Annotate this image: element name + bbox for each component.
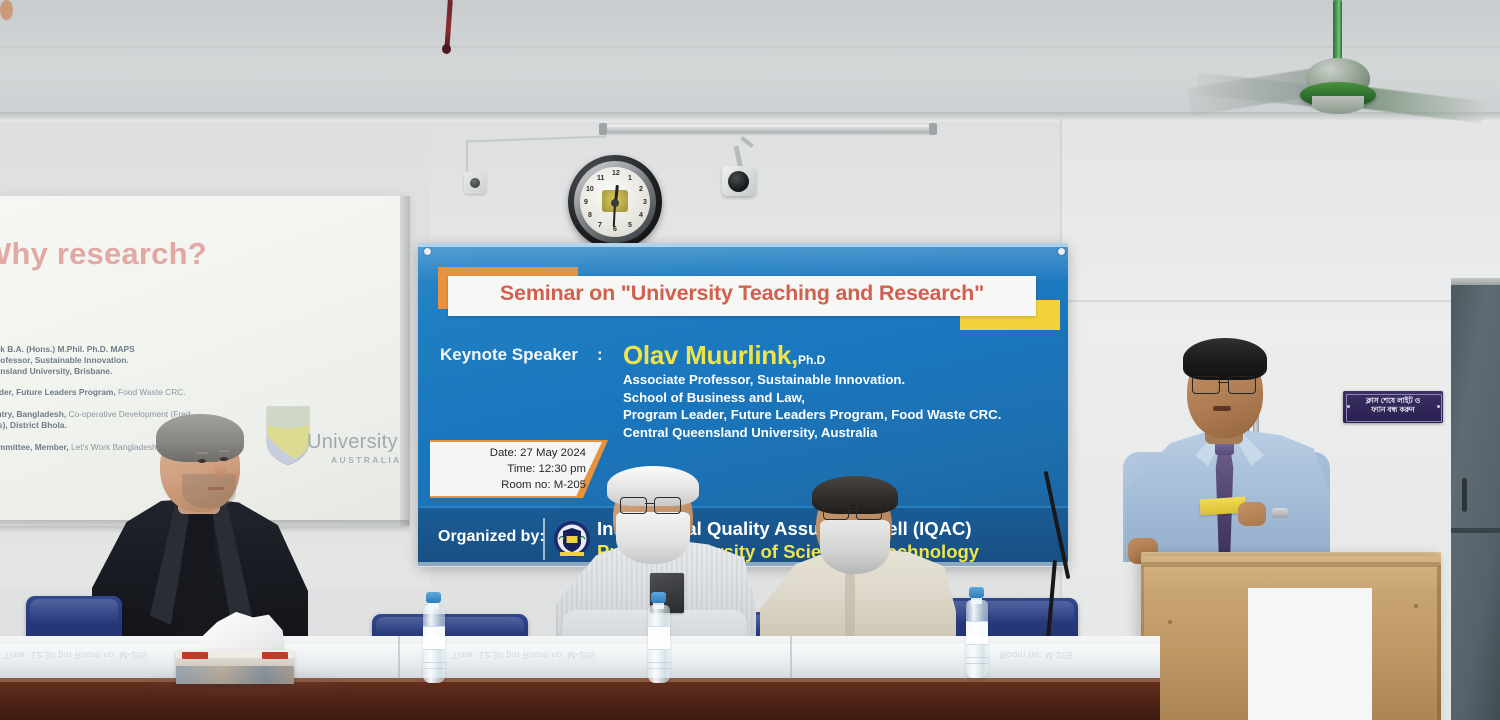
organized-by-label: Organized by:: [438, 528, 545, 546]
clock-numeral: 7: [598, 222, 602, 229]
person-olav-muurlink: [0, 0, 13, 20]
bottle-label: [648, 626, 670, 650]
object-shadow: [150, 676, 340, 692]
door-handle[interactable]: [1462, 478, 1467, 512]
hair: [1183, 338, 1267, 380]
table-reflection-text: Room no: M-205: [1000, 650, 1073, 660]
banner-top-hem: [418, 243, 1068, 247]
tissue-box-logo: [262, 652, 288, 659]
chair-highlight: [942, 601, 1074, 623]
glasses-lens-left: [1192, 376, 1220, 394]
mouth: [208, 487, 224, 490]
sign-screw: [1437, 405, 1440, 408]
bengali-sign-line: ফ্যান বন্ধ করুন: [1346, 405, 1440, 414]
keynote-colon: :: [597, 345, 603, 365]
slide-line-rest: Food Waste CRC.: [116, 387, 186, 397]
affiliation-line: Central Queensland University, Australia: [623, 424, 1053, 442]
glasses-lens-right: [1228, 376, 1256, 394]
podium-screw: [1168, 620, 1172, 624]
tissue-box-logo: [182, 652, 208, 659]
glasses-bridge: [1218, 382, 1228, 383]
slide-line: Muurlink B.A. (Hons.) M.Phil. Ph.D. MAPS: [0, 345, 260, 354]
glasses-bridge: [645, 503, 654, 504]
speaker-degree: Ph.D: [798, 353, 825, 367]
glasses-lens-right: [654, 497, 681, 514]
slide-line-rest: Let's Work Bangladesh: [69, 442, 157, 452]
seminar-photograph: 12 1 2 3 4 5 6 7 8 9 10 11 Why research?…: [0, 0, 1500, 720]
tube-light-cap: [929, 123, 937, 135]
fan-downrod: [1333, 0, 1342, 62]
clock-numeral: 1: [628, 175, 632, 182]
table-reflection-text: Time: 12:30 pm Room no: M-205: [4, 650, 147, 660]
university-crest-icon: [553, 519, 591, 559]
chair-highlight: [376, 617, 524, 635]
podium-crest: Pundra University of Science & Technolog…: [1248, 588, 1372, 720]
speaker-affiliation: Associate Professor, Sustainable Innovat…: [623, 371, 1053, 441]
cqu-logo: University AUSTRALIA: [265, 405, 393, 497]
hand-left: [1238, 502, 1266, 526]
event-details-text: Date: 27 May 2024 Time: 12:30 pm Room no…: [436, 445, 594, 494]
event-room: Room no: M-205: [436, 477, 586, 493]
ceiling-cornice: [0, 112, 1500, 122]
event-date: Date: 27 May 2024: [436, 445, 586, 461]
door-cross-bar: [1451, 528, 1500, 533]
bottle-rib: [423, 668, 445, 669]
clock-numeral: 12: [612, 170, 620, 177]
bottle-cap: [969, 587, 984, 598]
wall-speaker-cone: [728, 171, 749, 192]
keynote-speaker-name: Olav Muurlink,Ph.D: [623, 340, 825, 371]
bengali-sign-text: ক্লাস শেষে লাইট ও ফ্যান বন্ধ করুন: [1346, 396, 1440, 415]
bottle-cap: [426, 592, 441, 603]
table-reflection-text: Time: 12:30 pm Room no: M-205: [452, 650, 595, 660]
red-wire-tip: [442, 44, 451, 54]
bottle-label: [966, 621, 988, 645]
affiliation-line: School of Business and Law,: [623, 389, 1053, 407]
table-seam: [790, 636, 792, 682]
event-time: Time: 12:30 pm: [436, 461, 586, 477]
event-details-block: Date: 27 May 2024 Time: 12:30 pm Room no…: [430, 440, 608, 498]
tube-light: [603, 125, 933, 133]
keynote-label: Keynote Speaker: [440, 345, 578, 365]
glasses-lens-left: [823, 504, 849, 520]
clock-numeral: 5: [628, 222, 632, 229]
bottle-rib: [648, 662, 670, 663]
bottle-cap: [651, 592, 666, 603]
sign-screw: [1347, 405, 1350, 408]
slide-line-bold: am Leader, Future Leaders Program,: [0, 387, 116, 397]
clock-numeral: 2: [639, 186, 643, 193]
affiliation-line: Associate Professor, Sustainable Innovat…: [623, 371, 1053, 389]
fan-cap: [1312, 96, 1364, 114]
banner-grommet: [424, 248, 431, 255]
ceiling-seam: [0, 46, 1500, 48]
bottle-label: [423, 626, 445, 650]
slide-line-bold: Schools), District Bhola.: [0, 420, 67, 430]
bottle-rib: [966, 657, 988, 658]
slide-line-bold: tive Committee, Member,: [0, 442, 69, 452]
glasses-lens-left: [620, 497, 647, 514]
organized-divider: [543, 518, 545, 560]
clock-numeral: 11: [597, 175, 604, 182]
mouth: [1213, 406, 1231, 411]
podium-edge-right: [1437, 566, 1441, 720]
slide-line-bold: Muurlink B.A. (Hons.) M.Phil. Ph.D. MAPS: [0, 344, 135, 354]
tube-light-cap: [599, 123, 607, 135]
cqu-sublabel: AUSTRALIA: [331, 455, 402, 465]
slide-line: al Queensland University, Brisbane.: [0, 367, 260, 376]
grey-beard: [820, 520, 890, 574]
slide-line-bold: al Queensland University, Brisbane.: [0, 366, 112, 376]
slide-line: ciate Professor, Sustainable Innovation.: [0, 356, 260, 365]
eye: [198, 459, 206, 463]
hair: [156, 414, 244, 462]
ear: [0, 0, 13, 20]
glasses-lens-right: [856, 504, 882, 520]
slide-line-bold: ciate Professor, Sustainable Innovation.: [0, 355, 129, 365]
white-beard: [616, 512, 690, 564]
bottle-rib: [423, 662, 445, 663]
clock-numeral: 9: [584, 199, 588, 206]
podium-lip: [1141, 562, 1441, 567]
wall-socket-hole: [470, 178, 480, 188]
wall-seam-right: [1060, 300, 1500, 302]
speaker-name-text: Olav Muurlink,: [623, 340, 798, 370]
slide-line: am Leader, Future Leaders Program, Food …: [0, 388, 260, 397]
glasses-bridge: [847, 510, 856, 511]
clock-numeral: 3: [643, 199, 647, 206]
metal-door[interactable]: [1451, 285, 1500, 720]
bottle-rib: [966, 663, 988, 664]
slide-line-bold: of Country, Bangladesh,: [0, 409, 66, 419]
clock-numeral: 8: [588, 212, 592, 219]
banner-title: Seminar on "University Teaching and Rese…: [448, 281, 1036, 306]
podium-screw: [1414, 604, 1418, 608]
bottle-rib: [648, 668, 670, 669]
clock-numeral: 10: [586, 186, 594, 193]
affiliation-line: Program Leader, Future Leaders Program, …: [623, 406, 1053, 424]
nose: [215, 461, 227, 477]
clock-center-pin: [611, 199, 619, 207]
light-wire-drop: [466, 140, 468, 174]
wristwatch: [1272, 508, 1288, 518]
table-seam: [398, 636, 400, 682]
banner-grommet: [1058, 248, 1065, 255]
clock-numeral: 6: [613, 226, 617, 233]
stubble: [182, 474, 236, 508]
projection-screen-edge: [400, 196, 410, 526]
clock-numeral: 4: [639, 212, 643, 219]
cqu-wordmark: University: [307, 431, 398, 454]
bengali-sign-line: ক্লাস শেষে লাইট ও: [1346, 396, 1440, 405]
cqu-shield-icon: [265, 405, 311, 467]
slide-heading: Why research?: [0, 236, 282, 272]
chair-highlight: [30, 599, 118, 623]
